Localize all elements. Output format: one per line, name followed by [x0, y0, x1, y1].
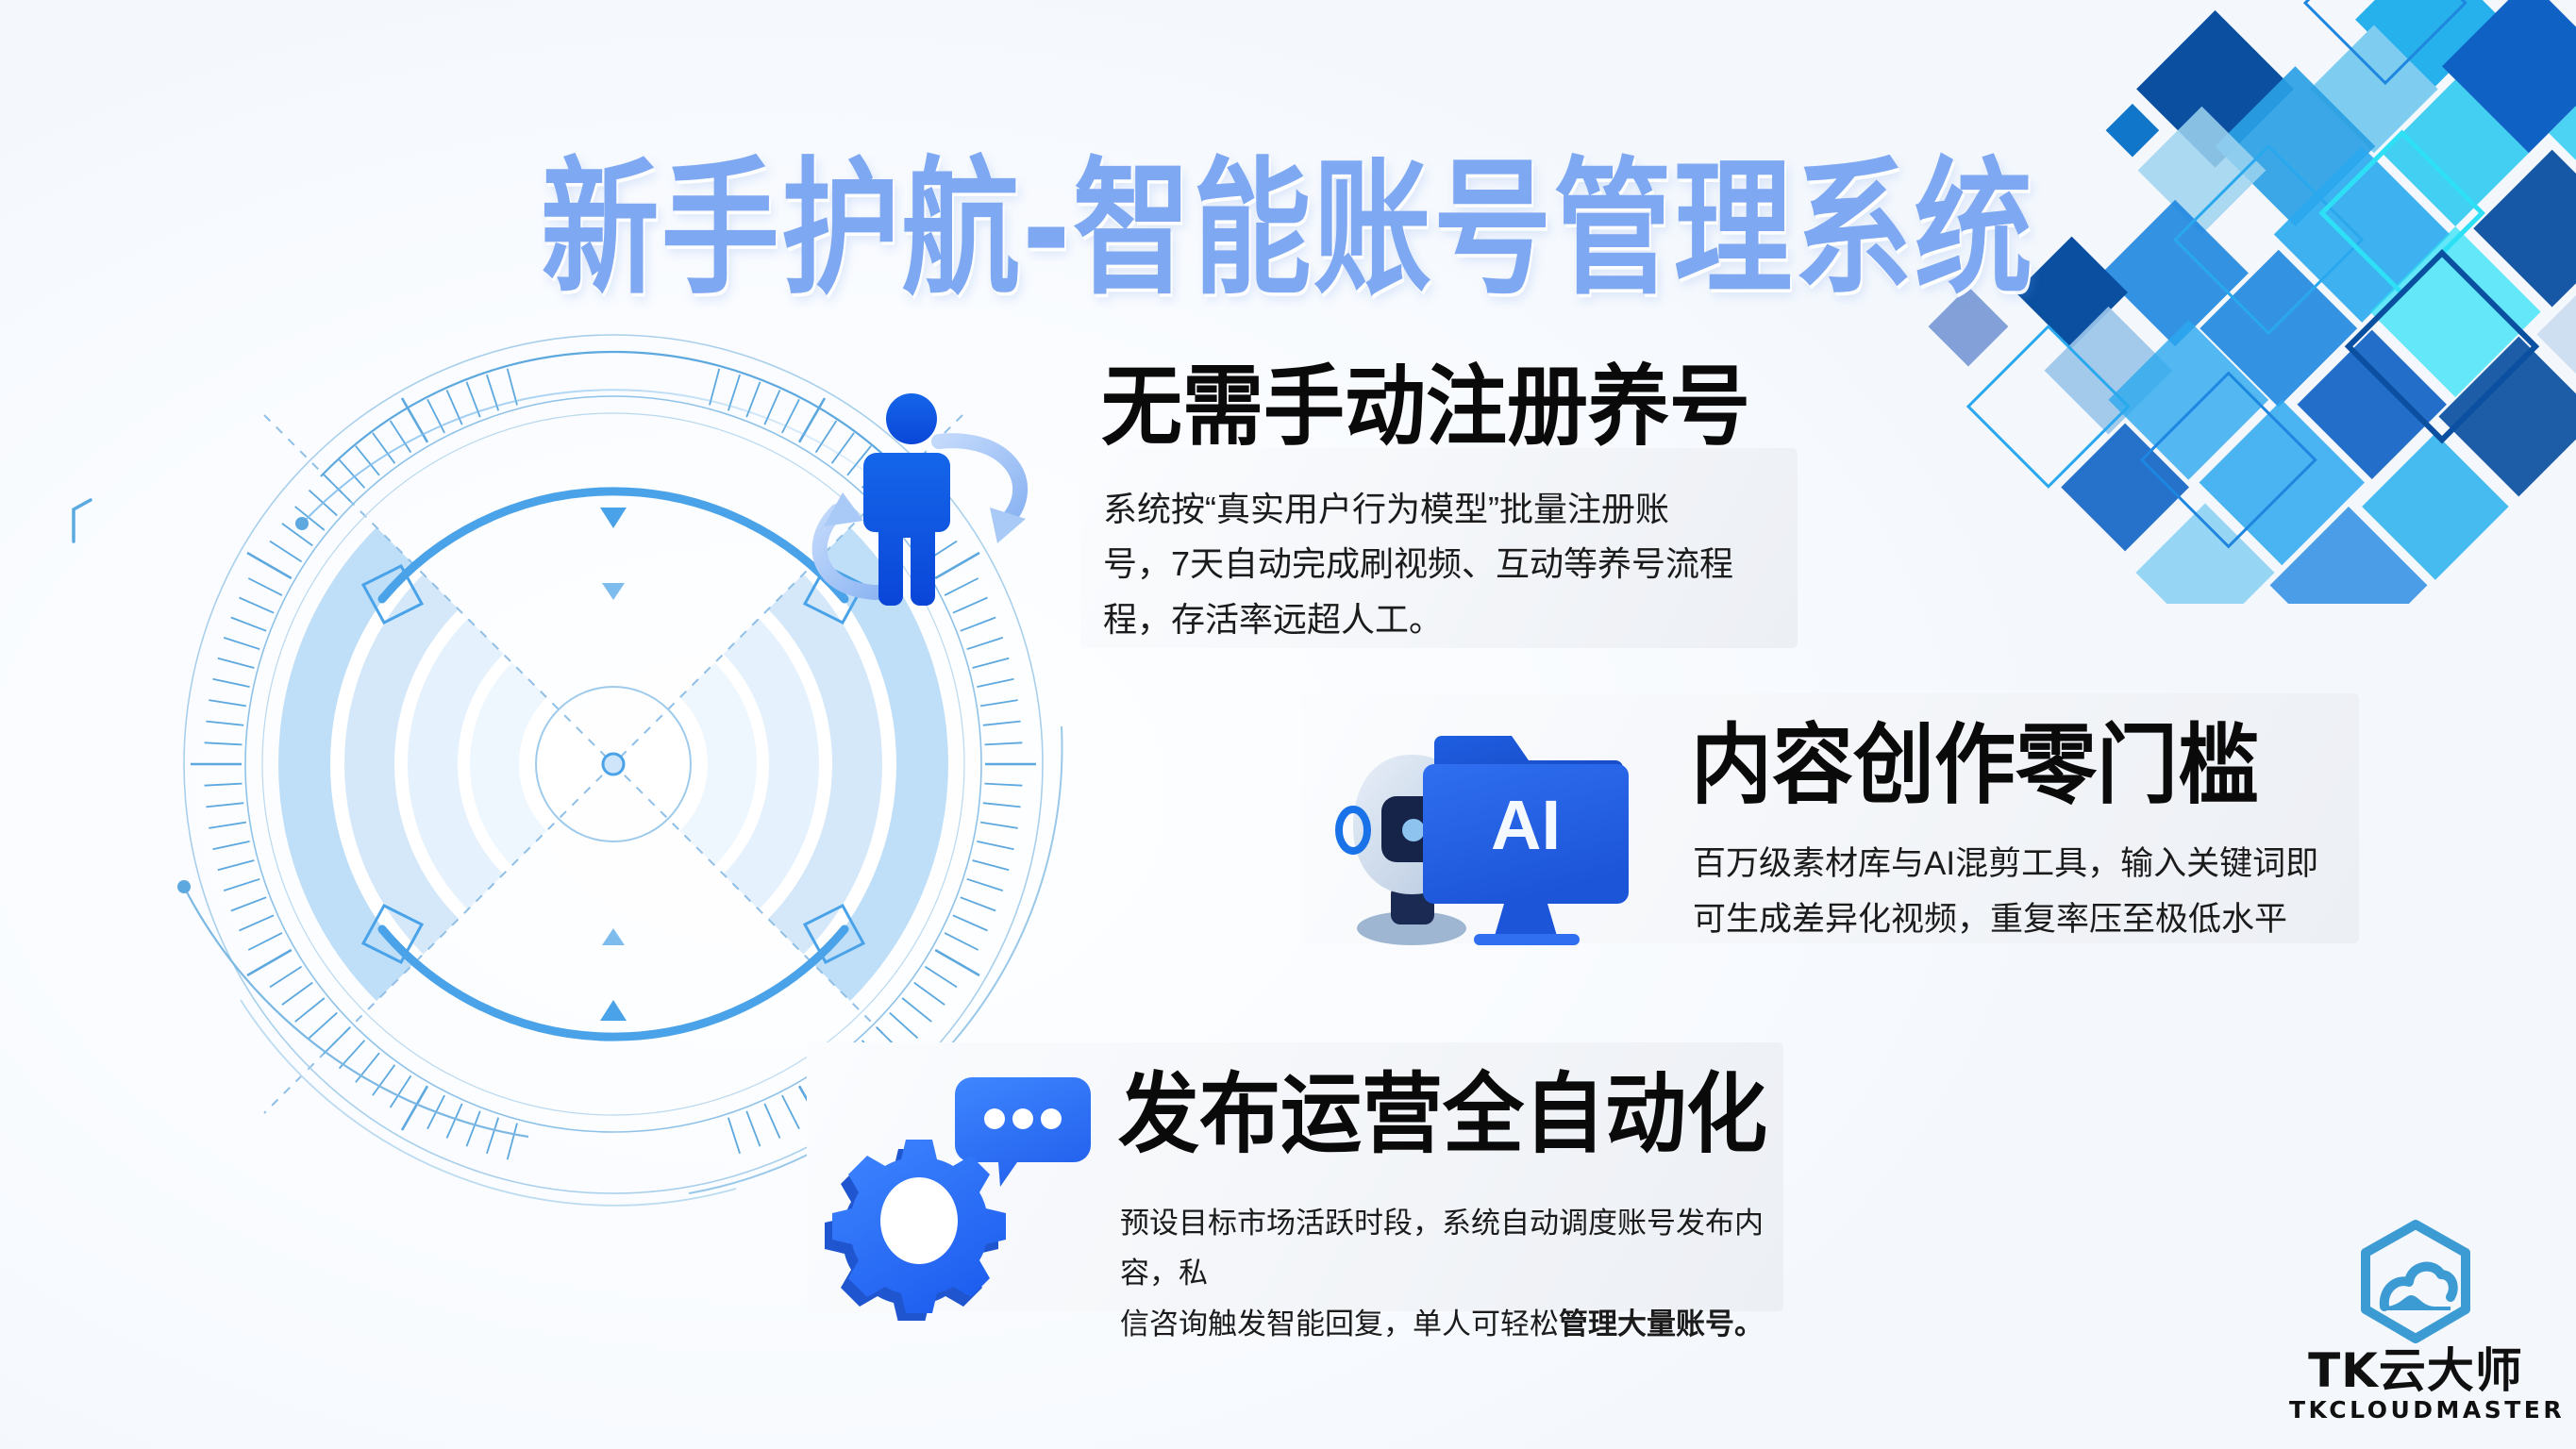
feature-title: 发布运营全自动化 — [1118, 1071, 1767, 1158]
feature-block-no-manual-register: 无需手动注册养号 系统按“真实用户行为模型”批量注册账 号，7天自动完成刷视频、… — [1080, 363, 1798, 646]
blue-diamond-mosaic — [1897, 0, 2576, 604]
title-container: 新手护航-智能账号管理系统 — [0, 75, 2576, 358]
logo-name: TK云大师 — [2289, 1346, 2542, 1396]
hexagon-cloud-logo-icon — [2356, 1220, 2475, 1344]
feature-body-line: 可生成差异化视频，重复率压至极低水平 — [1693, 892, 2353, 948]
feature-body-emphasis: 管理大量账号。 — [1559, 1307, 1764, 1341]
feature-body-line: 程，存活率远超人工。 — [1103, 592, 1775, 647]
feature-body-line: 预设目标市场活跃时段，系统自动调度账号发布内容，私 — [1120, 1198, 1771, 1299]
page-title: 新手护航-智能账号管理系统 — [542, 157, 2035, 304]
slide-canvas: 新手护航-智能账号管理系统 — [0, 0, 2576, 1449]
feature-body: 百万级素材库与AI混剪工具，输入关键词即 可生成差异化视频，重复率压至极低水平 — [1693, 837, 2353, 948]
feature-body: 预设目标市场活跃时段，系统自动调度账号发布内容，私 信咨询触发智能回复，单人可轻… — [1120, 1198, 1771, 1349]
feature-body-line: 信咨询触发智能回复，单人可轻松 — [1120, 1307, 1559, 1341]
feature-body-line-with-emphasis: 信咨询触发智能回复，单人可轻松管理大量账号。 — [1120, 1299, 1771, 1349]
feature-block-full-auto-publish: 发布运营全自动化 预设目标市场活跃时段，系统自动调度账号发布内容，私 信咨询触发… — [807, 1042, 1783, 1330]
logo-subtitle: TKCLOUDMASTER — [2289, 1397, 2542, 1424]
feature-body-line: 号，7天自动完成刷视频、互动等养号流程 — [1103, 537, 1775, 591]
corner-bracket-icon — [68, 498, 92, 543]
feature-block-zero-threshold-content: 内容创作零门槛 百万级素材库与AI混剪工具，输入关键词即 可生成差异化视频，重复… — [1302, 693, 2359, 958]
feature-body-line: 系统按“真实用户行为模型”批量注册账 — [1103, 482, 1775, 537]
feature-title: 内容创作零门槛 — [1691, 722, 2259, 809]
brand-logo: TK云大师 TKCLOUDMASTER — [2289, 1220, 2542, 1423]
feature-body-line: 百万级素材库与AI混剪工具，输入关键词即 — [1693, 837, 2353, 892]
feature-body: 系统按“真实用户行为模型”批量注册账 号，7天自动完成刷视频、互动等养号流程 程… — [1103, 482, 1775, 647]
feature-title: 无需手动注册养号 — [1101, 363, 1750, 451]
person-rotating-arrows-icon — [788, 377, 1043, 613]
